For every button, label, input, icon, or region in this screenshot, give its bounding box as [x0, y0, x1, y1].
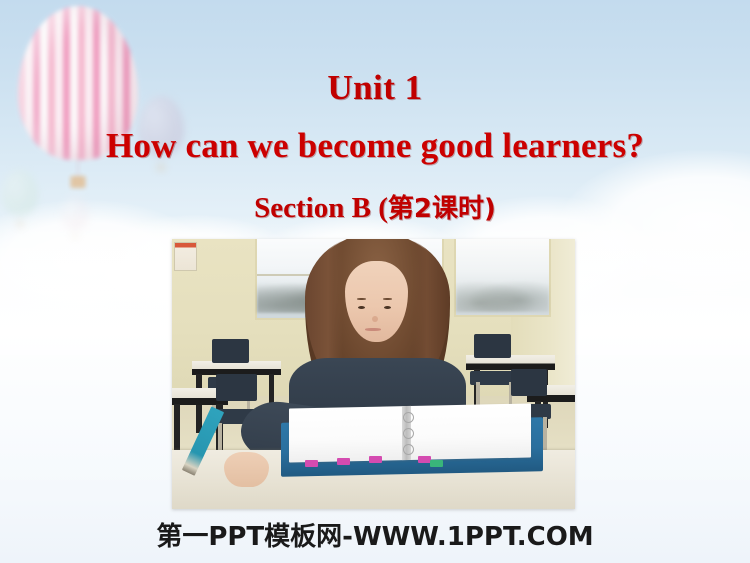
presentation-slide: Unit 1 How can we become good learners? …: [0, 0, 750, 563]
watermark-caption: 第一PPT模板网-WWW.1PPT.COM: [0, 516, 750, 553]
slide-section-subtitle: Section B (第2课时): [0, 188, 750, 225]
slide-main-title: How can we become good learners?: [0, 126, 750, 166]
cloud-decoration: [560, 150, 750, 300]
classroom-chair: [474, 334, 510, 358]
classroom-chair: [212, 339, 248, 363]
classroom-chair: [216, 374, 256, 401]
slide-unit-title: Unit 1: [0, 68, 750, 108]
binder-tab: [418, 456, 431, 463]
binder-tab: [305, 460, 318, 467]
student-hand: [224, 452, 268, 487]
binder-tab-green: [430, 460, 443, 467]
section-period-label: 第2课时): [388, 194, 496, 224]
binder-ring: [403, 412, 414, 423]
binder-ring: [403, 444, 414, 455]
balloon-basket: [71, 176, 86, 188]
window-trees: [456, 276, 549, 312]
wall-poster: [174, 242, 196, 272]
lesson-photo: [172, 239, 575, 509]
balloon-rope: [75, 228, 76, 234]
binder-ring: [403, 428, 414, 439]
classroom-chair: [511, 369, 547, 396]
classroom-window-right: [454, 239, 551, 317]
binder-tab: [369, 456, 382, 463]
binder-tab: [337, 458, 350, 465]
balloon-basket: [72, 234, 78, 239]
section-label: Section B (: [254, 192, 388, 224]
